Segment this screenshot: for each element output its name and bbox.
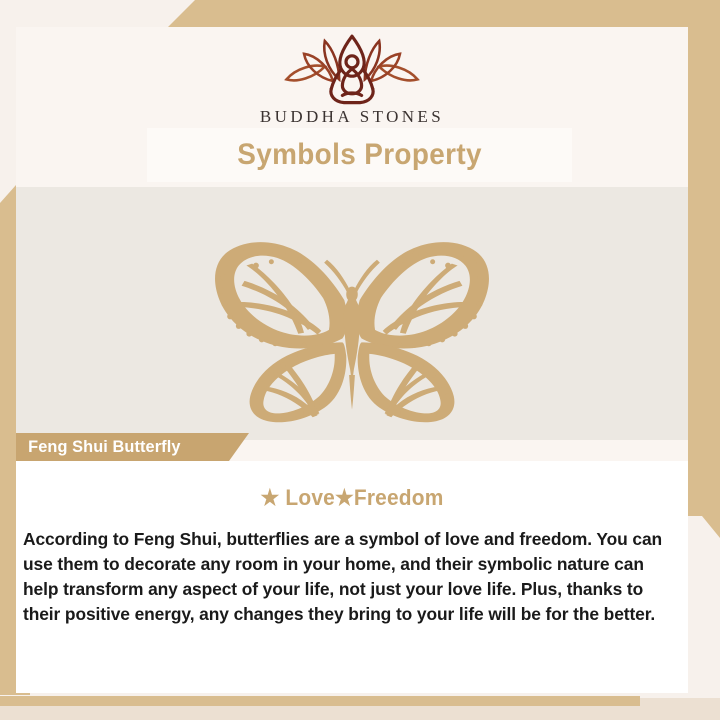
title-banner: Symbols Property [147,128,572,182]
body-paragraph: According to Feng Shui, butterflies are … [21,527,683,627]
brand-name: BUDDHA STONES [260,107,444,127]
tag-label: Feng Shui Butterfly [28,437,180,457]
content-stage: BUDDHA STONES Symbols Property [16,27,688,693]
infographic-page: BUDDHA STONES Symbols Property [0,0,720,720]
brand-header: BUDDHA STONES [16,27,688,137]
description-card: ★ Love★Freedom According to Feng Shui, b… [16,461,688,693]
frame-top-bar [0,0,720,28]
lotus-meditation-icon [272,33,432,105]
page-title: Symbols Property [237,138,482,172]
feng-shui-butterfly-tag: Feng Shui Butterfly [16,433,249,461]
subheading: ★ Love★Freedom [38,485,667,511]
frame-right-bar [688,0,720,538]
butterfly-icon [197,231,507,423]
frame-bottom-gold-bar [0,696,640,706]
feature-panel [16,187,688,440]
